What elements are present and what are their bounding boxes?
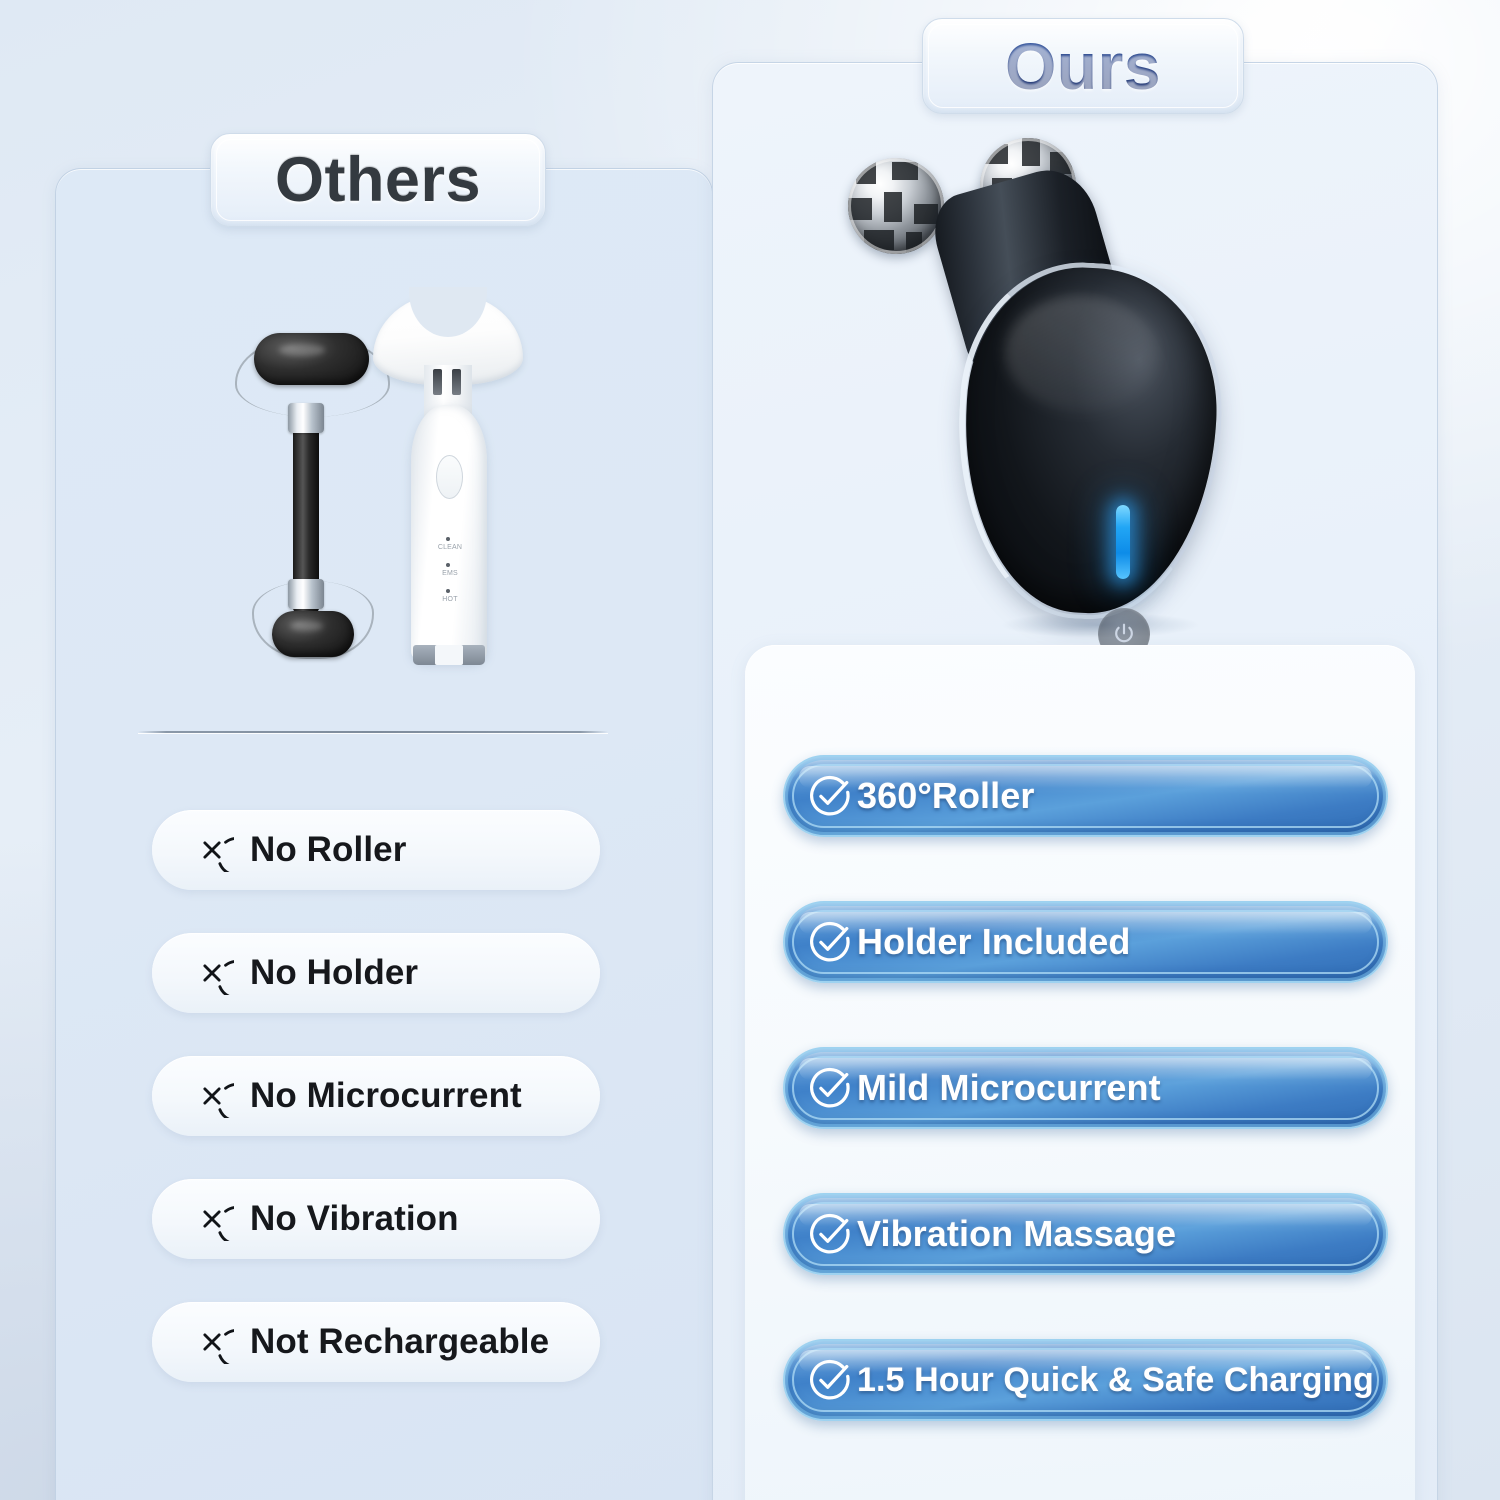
power-icon [1111, 621, 1137, 647]
x-circle-icon [190, 951, 234, 995]
ours-feature-list: 360°RollerHolder IncludedMild Microcurre… [783, 755, 1388, 1485]
ours-feature-label: Mild Microcurrent [857, 1067, 1161, 1109]
others-title-label: Others [275, 149, 481, 212]
neck-device-mode-indicators: CLEAN EMS HOT [433, 537, 467, 615]
roller-ball-ring-left [848, 158, 944, 254]
ours-feature-item: Vibration Massage [783, 1193, 1388, 1275]
mode-dot-icon [446, 563, 450, 567]
ours-title-label: Ours [1005, 33, 1161, 99]
roller-collar-top [288, 403, 324, 433]
others-feature-item: No Microcurrent [152, 1056, 600, 1136]
others-product-images: CLEAN EMS HOT [55, 168, 713, 708]
ours-feature-label: Vibration Massage [857, 1213, 1176, 1255]
others-feature-label: No Microcurrent [250, 1076, 522, 1116]
neck-device-prong-right [452, 369, 461, 395]
others-feature-label: Not Rechargeable [250, 1322, 549, 1362]
neck-device-mode: EMS [433, 563, 467, 589]
ours-product-image [820, 120, 1240, 640]
neck-device-power-button [436, 455, 463, 499]
check-circle-icon [807, 919, 853, 965]
check-circle-icon [807, 1065, 853, 1111]
check-circle-icon [807, 1211, 853, 1257]
others-feature-item: Not Rechargeable [152, 1302, 600, 1382]
ours-feature-item: Holder Included [783, 901, 1388, 983]
check-circle-icon [807, 1357, 853, 1403]
others-feature-list: No RollerNo HolderNo MicrocurrentNo Vibr… [152, 810, 600, 1425]
mode-label: HOT [433, 596, 467, 603]
mode-label: CLEAN [433, 544, 467, 551]
mode-label: EMS [433, 570, 467, 577]
others-feature-label: No Vibration [250, 1199, 459, 1239]
neck-device-mode: CLEAN [433, 537, 467, 563]
mode-dot-icon [446, 589, 450, 593]
others-feature-item: No Vibration [152, 1179, 600, 1259]
neck-device-prongs [431, 369, 465, 395]
roller-stone-small [272, 611, 354, 657]
ours-feature-label: 360°Roller [857, 775, 1034, 817]
ours-feature-item: 360°Roller [783, 755, 1388, 837]
x-circle-icon [190, 828, 234, 872]
ours-feature-label: Holder Included [857, 921, 1131, 963]
device-led-indicator [1116, 505, 1130, 579]
neck-device-prong-left [433, 369, 442, 395]
others-title-badge: Others [210, 133, 546, 227]
ours-title-badge: Ours [922, 18, 1244, 114]
device-main-body [956, 262, 1224, 620]
roller-collar-bottom [288, 579, 324, 609]
x-circle-icon [190, 1197, 234, 1241]
ours-feature-item: 1.5 Hour Quick & Safe Charging [783, 1339, 1388, 1421]
x-circle-icon [190, 1074, 234, 1118]
others-feature-item: No Holder [152, 933, 600, 1013]
neck-device-head-notch [409, 287, 487, 337]
neck-device-mode: HOT [433, 589, 467, 615]
others-feature-label: No Roller [250, 830, 406, 870]
roller-stone-large [254, 333, 369, 385]
others-section-divider [138, 731, 608, 733]
neck-device-base-plate [413, 645, 485, 665]
ours-feature-item: Mild Microcurrent [783, 1047, 1388, 1129]
white-neck-device-product-image: CLEAN EMS HOT [373, 293, 523, 683]
chrome-roller-ball-left [848, 158, 944, 254]
others-feature-label: No Holder [250, 953, 418, 993]
others-feature-item: No Roller [152, 810, 600, 890]
x-circle-icon [190, 1320, 234, 1364]
mode-dot-icon [446, 537, 450, 541]
neck-device-body: CLEAN EMS HOT [411, 405, 487, 663]
check-circle-icon [807, 773, 853, 819]
ours-feature-label: 1.5 Hour Quick & Safe Charging [857, 1361, 1374, 1400]
